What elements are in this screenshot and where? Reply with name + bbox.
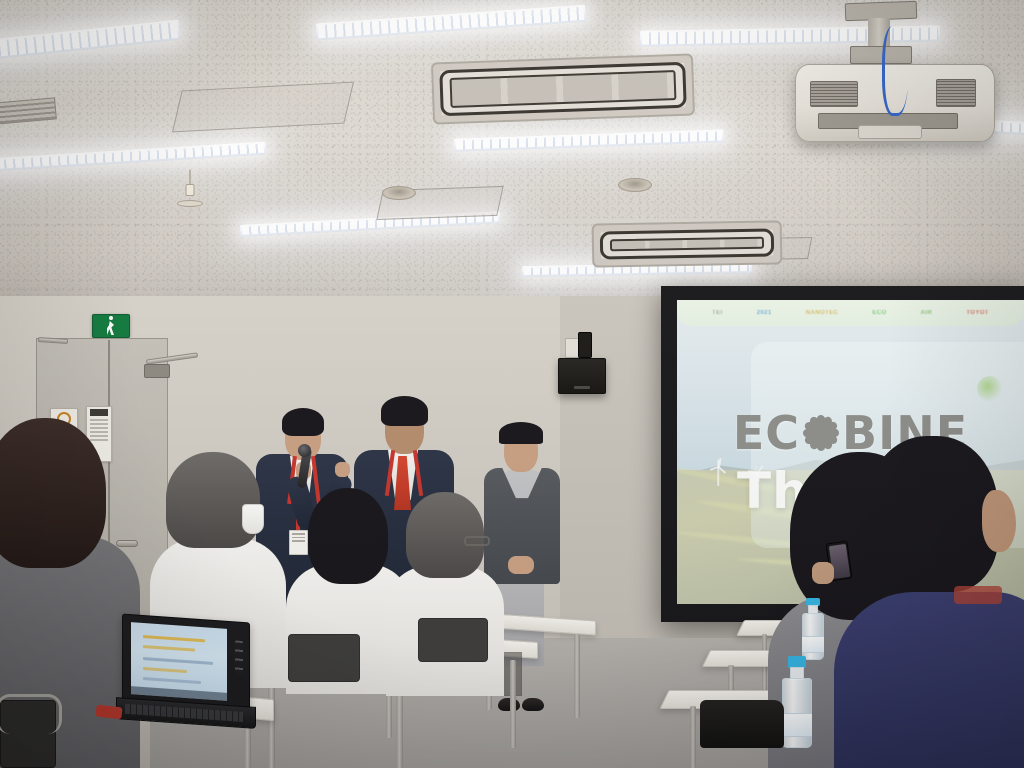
- presenter-1-hair: [282, 408, 324, 436]
- chair-back-center-2: [418, 618, 488, 662]
- audience-left-woman-hair: [0, 418, 106, 568]
- audience-right-navy-collar: [954, 586, 1002, 604]
- presenter-3-hair-front: [499, 422, 543, 444]
- audience-woman-center-hair: [308, 488, 388, 584]
- presenter-1-hand-gesture: [335, 462, 350, 477]
- water-bottle-back: [802, 598, 824, 660]
- sponsor-logo-0: TEI: [712, 310, 723, 316]
- smoke-detector-2: [618, 178, 652, 192]
- sponsor-logo-3: ECO: [872, 310, 886, 316]
- sponsor-logo-2: NANOTEC: [806, 310, 838, 316]
- audience-man-center: [386, 492, 504, 692]
- ceiling: [0, 0, 1024, 300]
- speaker-top-device: [578, 332, 592, 358]
- audience-right-navy-shirt: [834, 592, 1024, 768]
- screen-text-line: [143, 677, 201, 684]
- desk-leg: [268, 680, 275, 768]
- sponsor-logo-4: AIR: [921, 310, 933, 316]
- ceiling-ac-unit-2: [592, 220, 783, 267]
- audience-right-navy: [834, 436, 1024, 768]
- sponsor-logo-1: 2021: [757, 310, 772, 316]
- projector-vent-left: [810, 81, 858, 107]
- laptop-screen: [131, 622, 227, 701]
- presenter-3-shoe-left: [498, 698, 520, 711]
- presenter-3-shoe-right: [522, 698, 544, 711]
- chair-frame-left: [0, 694, 62, 734]
- notice-header: [90, 409, 108, 416]
- audience-right-gray-hand: [812, 562, 834, 584]
- laptop-bezel-buttons[interactable]: [235, 640, 243, 675]
- door-closer-body: [144, 364, 170, 378]
- desk-leg: [396, 690, 403, 768]
- desk-leg: [574, 634, 580, 718]
- black-bag: [700, 700, 784, 748]
- sprinkler-body: [186, 184, 195, 196]
- presenter-3-hands-clasped: [508, 556, 534, 574]
- audience-man-center-hair: [406, 492, 484, 578]
- audience-masked-man-hair: [166, 452, 260, 548]
- ceiling-ac-unit-1: [431, 53, 695, 124]
- eyeglasses-icon: [464, 536, 490, 546]
- presenter-2-hair: [381, 396, 428, 426]
- running-man-icon: [105, 316, 117, 336]
- water-bottle-front: [782, 656, 812, 748]
- audience-right-navy-hair: [866, 436, 998, 592]
- microphone-head: [298, 444, 311, 457]
- screen-text-line: [143, 657, 213, 665]
- audience-right-navy-ear: [982, 490, 1016, 552]
- sprinkler-head: [176, 170, 204, 212]
- wall-speaker: [558, 358, 606, 394]
- bottle-label: [802, 636, 824, 652]
- screen-text-line: [143, 645, 195, 652]
- desk-leg: [690, 706, 696, 768]
- projector-lens-cover: [858, 125, 922, 139]
- conference-room-scene: TEI 2021 NANOTEC ECO AIR TOYOT EC: [0, 0, 1024, 768]
- slide-sponsor-strip: TEI 2021 NANOTEC ECO AIR TOYOT: [677, 300, 1024, 326]
- screen-text-line: [143, 635, 205, 642]
- sponsor-logo-5: TOYOT: [966, 310, 989, 316]
- exit-sign: [92, 314, 130, 338]
- face-mask: [242, 504, 264, 534]
- desk-leg: [510, 660, 516, 748]
- laptop-red-accessory: [95, 705, 122, 720]
- projector-vent-right: [936, 79, 976, 107]
- bottle-label: [782, 713, 812, 737]
- laptop-keyboard[interactable]: [125, 704, 243, 722]
- sprinkler-deflector: [177, 200, 203, 207]
- projector-network-cable: [882, 26, 908, 116]
- smoke-detector-1: [382, 186, 416, 200]
- chair-back-center: [288, 634, 360, 682]
- screen-text-line: [143, 667, 187, 673]
- slide-leaf-accent: [977, 376, 1003, 402]
